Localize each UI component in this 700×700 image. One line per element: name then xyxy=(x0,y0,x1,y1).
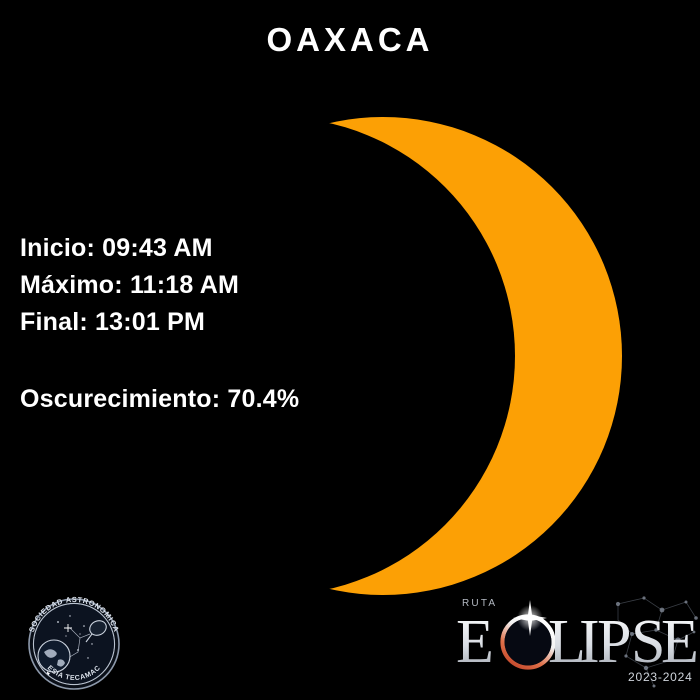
obscuration-value: Oscurecimiento: 70.4% xyxy=(20,385,299,414)
eclipse-disc-icon xyxy=(503,600,554,668)
page-title: OAXACA xyxy=(0,22,700,58)
eclipse-timings: Inicio: 09:43 AM Máximo: 11:18 AM Final:… xyxy=(20,230,239,341)
timing-inicio: Inicio: 09:43 AM xyxy=(20,230,239,267)
ruta-eclipse-wordmark-icon: RUTA E L I P S E 2023-2024 xyxy=(448,588,698,696)
eclipse-poster: OAXACA Inicio: 09:43 AM Máximo: 11:18 AM… xyxy=(0,0,700,700)
timing-maximo: Máximo: 11:18 AM xyxy=(20,267,239,304)
astronomy-society-emblem-icon: SOCIEDAD ASTRONOMICA ESIA TECAMAC xyxy=(18,588,130,692)
timing-final: Final: 13:01 PM xyxy=(20,304,239,341)
wordmark-letter-p: P xyxy=(597,608,632,676)
eclipse-years-text: 2023-2024 xyxy=(628,670,693,684)
ruta-eclipse-logo: RUTA E L I P S E 2023-2024 xyxy=(448,588,698,696)
wordmark-letter-e2: E xyxy=(661,608,698,676)
wordmark-letter-e1: E xyxy=(456,608,495,676)
sociedad-astronomica-badge: SOCIEDAD ASTRONOMICA ESIA TECAMAC xyxy=(18,588,130,692)
